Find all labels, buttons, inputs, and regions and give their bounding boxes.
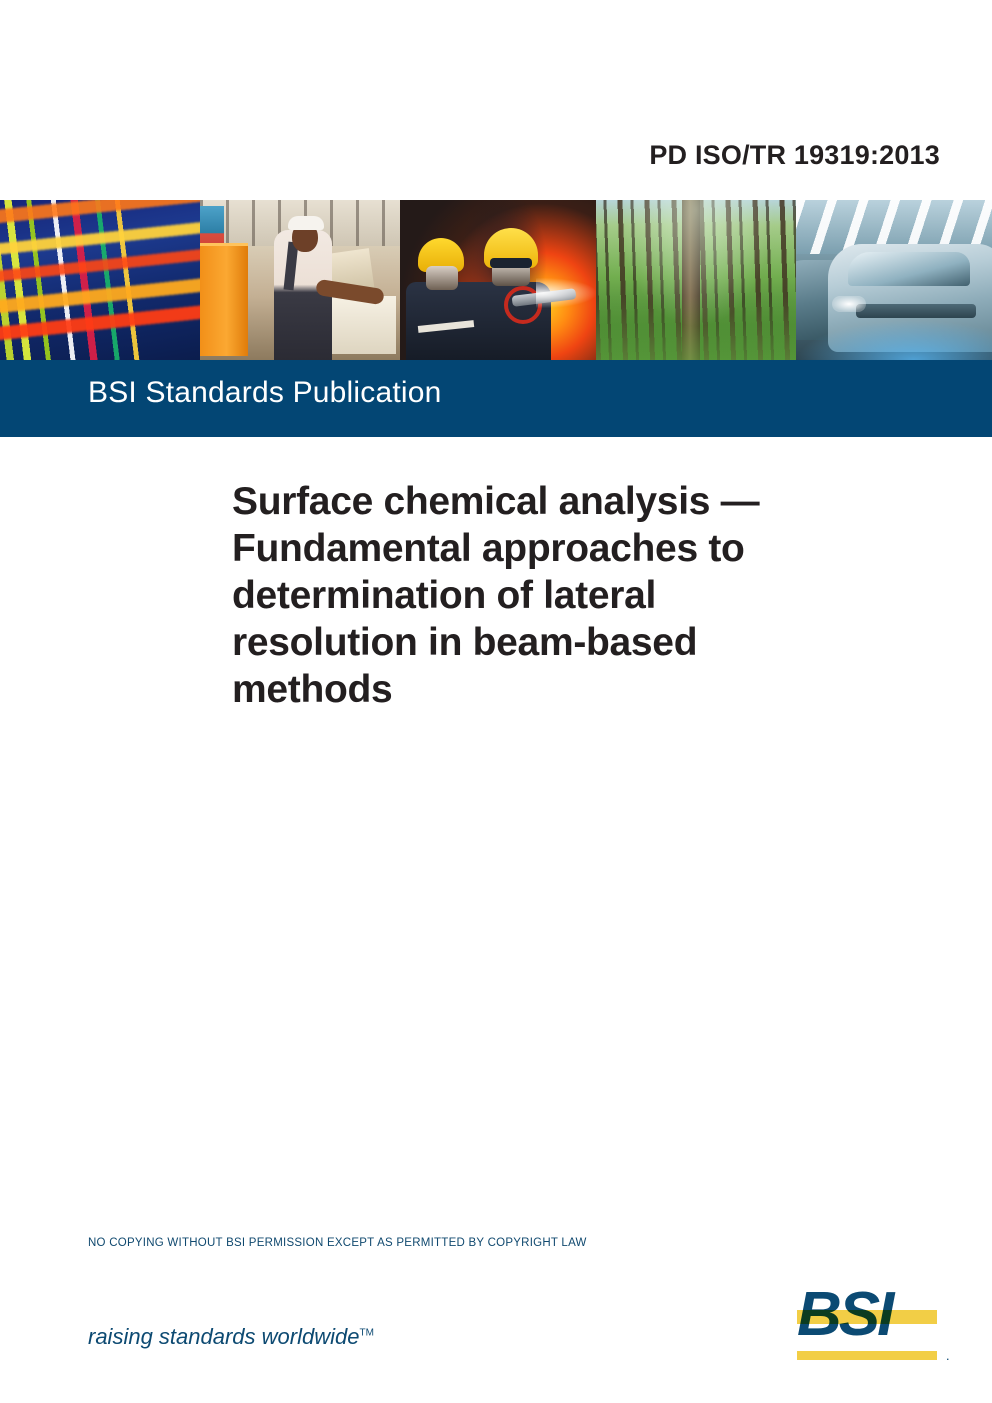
photo-panel-firefighters [400, 200, 596, 360]
photo-panel-night-light-trails [0, 200, 200, 360]
band-label: BSI Standards Publication [88, 376, 442, 410]
title-line-2: Fundamental approaches to [232, 525, 872, 572]
photo-panel-forest [596, 200, 796, 360]
bsi-standards-publication-band: BSI Standards Publication [0, 360, 992, 437]
photo-panel-car-assembly-line [796, 200, 992, 360]
standard-number: PD ISO/TR 19319:2013 [0, 140, 940, 171]
trademark-mark: TM [359, 1328, 373, 1339]
factory-floor-glow-shape [796, 320, 992, 360]
footer-tagline-text: raising standards worldwide [88, 1324, 359, 1349]
bsi-logo-gold-stripe [797, 1310, 937, 1324]
warehouse-orange-crate-shape [200, 243, 248, 356]
bsi-logo-registered-mark: . [946, 1352, 949, 1362]
bsi-logo: BSI . [797, 1290, 949, 1362]
firefighter-visor-shape [490, 258, 532, 268]
photo-banner-strip [0, 200, 992, 360]
page-title: Surface chemical analysis — Fundamental … [232, 478, 872, 713]
firefighter-face-left-shape [426, 266, 458, 290]
title-line-5: methods [232, 666, 872, 713]
car-grille-shape [856, 304, 976, 318]
title-line-4: resolution in beam-based [232, 619, 872, 666]
forest-foreground-trunk-shape [682, 200, 700, 360]
copyright-notice: NO COPYING WITHOUT BSI PERMISSION EXCEPT… [88, 1237, 587, 1249]
water-spray-shape [536, 278, 596, 308]
warehouse-box-lower-shape [326, 296, 396, 354]
photo-panel-warehouse-worker [200, 200, 400, 360]
car-windshield-shape [848, 252, 970, 286]
title-line-1: Surface chemical analysis — [232, 478, 872, 525]
worker-cap-shape [288, 216, 324, 230]
title-line-3: determination of lateral [232, 572, 872, 619]
bsi-logo-gold-bar [797, 1351, 937, 1360]
car-headlight-shape [832, 296, 866, 312]
footer-tagline: raising standards worldwideTM [88, 1324, 374, 1350]
